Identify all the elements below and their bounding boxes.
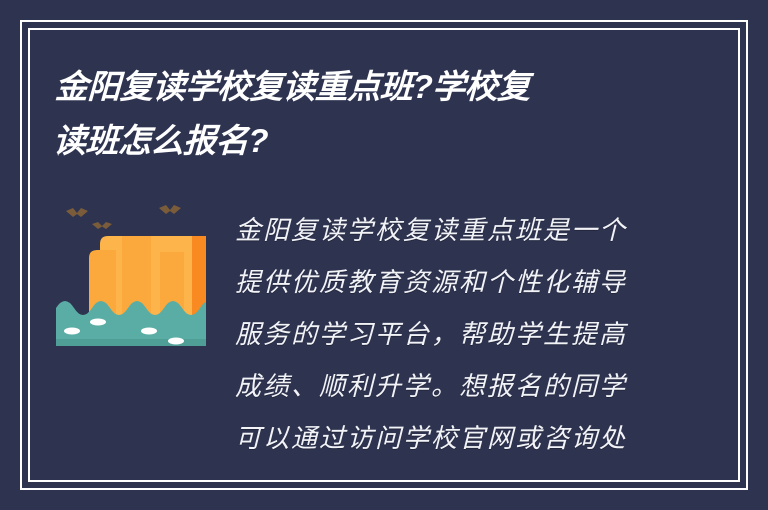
- illustration-svg: [56, 196, 206, 356]
- bird-icon: [66, 208, 88, 217]
- bird-icon: [159, 205, 181, 214]
- page-title: 金阳复读学校复读重点班?学校复 读班怎么报名?: [52, 60, 676, 168]
- foam-mark: [64, 328, 80, 335]
- foam-mark: [141, 328, 157, 335]
- seaside-cliff-with-birds-illustration: [56, 196, 206, 356]
- poster-canvas: 金阳复读学校复读重点班?学校复 读班怎么报名?: [0, 0, 768, 510]
- bird-icon-group: [66, 205, 181, 229]
- bird-icon: [92, 222, 112, 229]
- foam-mark: [168, 338, 184, 345]
- foam-mark: [90, 319, 106, 326]
- body-paragraph: 金阳复读学校复读重点班是一个 提供优质教育资源和个性化辅导 服务的学习平台，帮助…: [235, 205, 655, 465]
